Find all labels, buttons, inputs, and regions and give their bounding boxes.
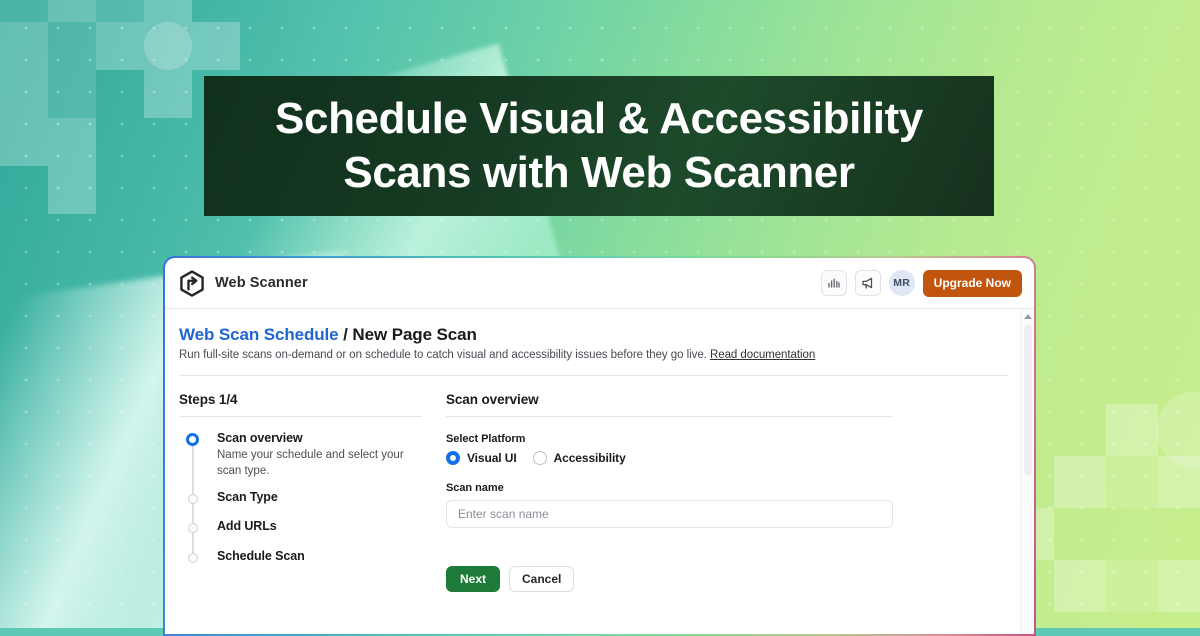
radio-filled-icon	[186, 433, 199, 446]
radio-label-visual-ui: Visual UI	[467, 451, 517, 465]
breadcrumb-parent-link[interactable]: Web Scan Schedule	[179, 325, 339, 344]
radio-option-visual-ui[interactable]: Visual UI	[446, 451, 517, 465]
scroll-up-arrow-icon[interactable]	[1024, 314, 1032, 319]
brand-name: Web Scanner	[215, 275, 308, 291]
step-indicator-idle	[179, 548, 206, 565]
breadcrumb: Web Scan Schedule / New Page Scan	[179, 325, 1008, 345]
analytics-icon	[827, 276, 841, 290]
step-body: Scan Type	[217, 489, 278, 506]
app-window-inner: Web Scanner MR Upgrade Now Web Scan Sche…	[165, 258, 1034, 634]
read-documentation-link[interactable]: Read documentation	[710, 349, 815, 361]
scrollbar-thumb[interactable]	[1024, 325, 1032, 475]
steps-panel: Steps 1/4 Scan overview Name your schedu…	[179, 392, 422, 592]
app-header: Web Scanner MR Upgrade Now	[165, 258, 1034, 309]
step-body: Schedule Scan	[217, 548, 305, 565]
title-banner: Schedule Visual & Accessibility Scans wi…	[204, 76, 994, 216]
step-description: Name your schedule and select your scan …	[217, 448, 412, 480]
step-indicator-active	[179, 430, 206, 480]
circle-outline-icon	[188, 523, 198, 533]
page-subtitle-text: Run full-site scans on-demand or on sche…	[179, 349, 707, 361]
form-heading: Scan overview	[446, 392, 893, 416]
step-item-schedule-scan[interactable]: Schedule Scan	[179, 548, 422, 565]
megaphone-icon	[861, 276, 875, 290]
scan-name-input[interactable]	[446, 500, 893, 528]
cube-arrow-up-icon	[179, 270, 205, 297]
scan-name-label: Scan name	[446, 482, 893, 494]
brand-logo[interactable]: Web Scanner	[179, 270, 308, 297]
page-body: Web Scan Schedule / New Page Scan Run fu…	[165, 309, 1034, 634]
app-window: Web Scanner MR Upgrade Now Web Scan Sche…	[163, 256, 1036, 636]
upgrade-now-button[interactable]: Upgrade Now	[923, 270, 1022, 297]
step-body: Scan overview Name your schedule and sel…	[217, 430, 412, 480]
page-subtitle: Run full-site scans on-demand or on sche…	[179, 349, 1008, 361]
cancel-button[interactable]: Cancel	[509, 566, 574, 592]
analytics-icon-button[interactable]	[821, 270, 847, 296]
next-button[interactable]: Next	[446, 566, 500, 592]
stepper: Scan overview Name your schedule and sel…	[179, 417, 422, 565]
breadcrumb-current: New Page Scan	[352, 325, 476, 344]
radio-unselected-icon	[533, 451, 547, 465]
step-title: Schedule Scan	[217, 548, 305, 565]
radio-label-accessibility: Accessibility	[554, 451, 626, 465]
platform-radio-group: Visual UI Accessibility	[446, 451, 893, 465]
circle-outline-icon	[188, 553, 198, 563]
wizard-columns: Steps 1/4 Scan overview Name your schedu…	[179, 376, 1008, 592]
radio-selected-icon	[446, 451, 460, 465]
radio-option-accessibility[interactable]: Accessibility	[533, 451, 626, 465]
title-line-1: Schedule Visual & Accessibility	[275, 93, 923, 145]
avatar[interactable]: MR	[889, 270, 915, 296]
vertical-scrollbar[interactable]	[1020, 309, 1034, 634]
step-indicator-idle	[179, 518, 206, 535]
step-item-scan-type[interactable]: Scan Type	[179, 489, 422, 506]
step-title: Scan Type	[217, 489, 278, 506]
steps-heading: Steps 1/4	[179, 392, 422, 416]
megaphone-icon-button[interactable]	[855, 270, 881, 296]
step-item-add-urls[interactable]: Add URLs	[179, 518, 422, 535]
step-title: Add URLs	[217, 518, 277, 535]
step-item-scan-overview[interactable]: Scan overview Name your schedule and sel…	[179, 430, 422, 480]
step-body: Add URLs	[217, 518, 277, 535]
breadcrumb-separator: /	[343, 325, 348, 344]
step-title: Scan overview	[217, 430, 412, 447]
circle-outline-icon	[188, 494, 198, 504]
form-panel: Scan overview Select Platform Visual UI …	[446, 392, 1008, 592]
step-indicator-idle	[179, 489, 206, 506]
form-fields: Select Platform Visual UI Accessibility …	[446, 417, 893, 592]
select-platform-label: Select Platform	[446, 433, 893, 445]
form-actions: Next Cancel	[446, 566, 893, 592]
header-actions: MR Upgrade Now	[821, 270, 1022, 297]
title-line-2: Scans with Web Scanner	[343, 147, 854, 199]
